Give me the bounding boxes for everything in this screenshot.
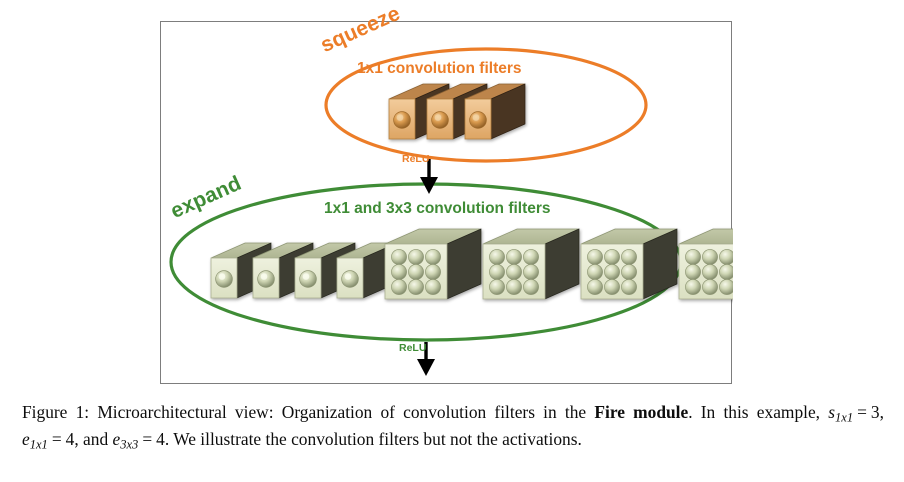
caption-text-3: . We illustrate the convolution filters … bbox=[165, 429, 582, 449]
caption-equals-3: = bbox=[138, 429, 156, 449]
figure-caption: Figure 1: Microarchitectural view: Organ… bbox=[22, 400, 884, 454]
relu-label-bottom: ReLU bbox=[399, 342, 426, 354]
caption-equals-2: = bbox=[48, 429, 66, 449]
caption-text-2: . In this example, bbox=[688, 402, 820, 422]
expand-3x3-filter-3 bbox=[581, 229, 677, 299]
expand-3x3-filter-4 bbox=[679, 229, 733, 299]
figure-frame: squeeze 1x1 convolution filters ReLU exp… bbox=[160, 21, 732, 384]
caption-var-e1: e bbox=[22, 429, 30, 449]
expand-3x3-filter-1 bbox=[385, 229, 481, 299]
expand-1x1-filter-4 bbox=[337, 243, 397, 298]
expand-3x3-filter-2 bbox=[483, 229, 579, 299]
relu-label-top: ReLU bbox=[402, 153, 429, 165]
caption-val-s: 3 bbox=[871, 402, 880, 422]
squeeze-filter-2 bbox=[427, 84, 487, 139]
caption-sub-e3: 3x3 bbox=[120, 437, 138, 451]
caption-sub-s: 1x1 bbox=[835, 410, 853, 424]
expand-3x3-filter-group bbox=[385, 229, 733, 299]
squeeze-filter-1 bbox=[389, 84, 449, 139]
caption-sub-e1: 1x1 bbox=[30, 437, 48, 451]
caption-figure-number: Figure 1: bbox=[22, 402, 89, 422]
caption-conjunction: , and bbox=[74, 429, 108, 449]
caption-val-e3: 4 bbox=[156, 429, 165, 449]
expand-1x1-filter-group bbox=[211, 243, 397, 298]
expand-filters-label: 1x1 and 3x3 convolution filters bbox=[324, 200, 551, 218]
squeeze-group-label: squeeze bbox=[317, 2, 404, 58]
expand-group-label: expand bbox=[167, 172, 245, 224]
squeeze-filters-label: 1x1 convolution filters bbox=[357, 60, 522, 78]
expand-1x1-filter-2 bbox=[253, 243, 313, 298]
squeeze-filter-group bbox=[389, 84, 525, 139]
caption-equals-1: = bbox=[853, 402, 871, 422]
expand-1x1-filter-3 bbox=[295, 243, 355, 298]
caption-text-1: Microarchitectural view: Organization of… bbox=[97, 402, 586, 422]
caption-comma-1: , bbox=[880, 402, 884, 422]
caption-bold-term: Fire module bbox=[594, 402, 688, 422]
expand-1x1-filter-1 bbox=[211, 243, 271, 298]
caption-var-s: s bbox=[828, 402, 835, 422]
squeeze-filter-3 bbox=[465, 84, 525, 139]
